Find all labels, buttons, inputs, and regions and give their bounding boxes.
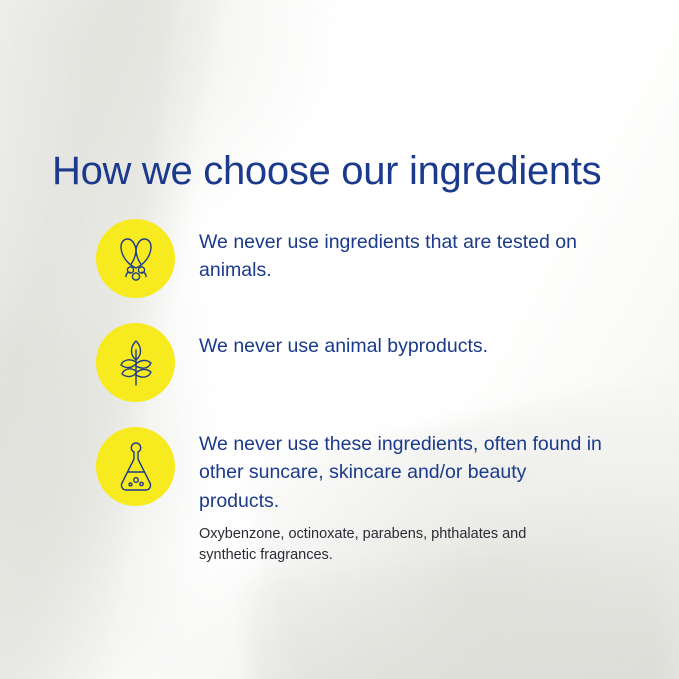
page-title: How we choose our ingredients (52, 148, 601, 195)
flask-beaker-icon (117, 441, 155, 493)
list-item-text: We never use animal byproducts. (199, 323, 488, 360)
icon-badge (96, 323, 175, 402)
list-item-note: Oxybenzone, octinoxate, parabens, phthal… (199, 524, 559, 565)
ingredient-claims-graphic: How we choose our ingredients (0, 0, 679, 679)
list-item: We never use ingredients that are tested… (96, 219, 636, 298)
list-item-text: We never use ingredients that are tested… (199, 219, 609, 285)
cruelty-free-rabbit-icon (113, 235, 159, 283)
list-item: We never use animal byproducts. (96, 323, 636, 402)
claims-list: We never use ingredients that are tested… (96, 219, 636, 591)
leaf-plant-icon (116, 338, 156, 388)
icon-badge (96, 427, 175, 506)
list-item-text: We never use these ingredients, often fo… (199, 427, 609, 515)
icon-badge (96, 219, 175, 298)
list-item: We never use these ingredients, often fo… (96, 427, 636, 566)
